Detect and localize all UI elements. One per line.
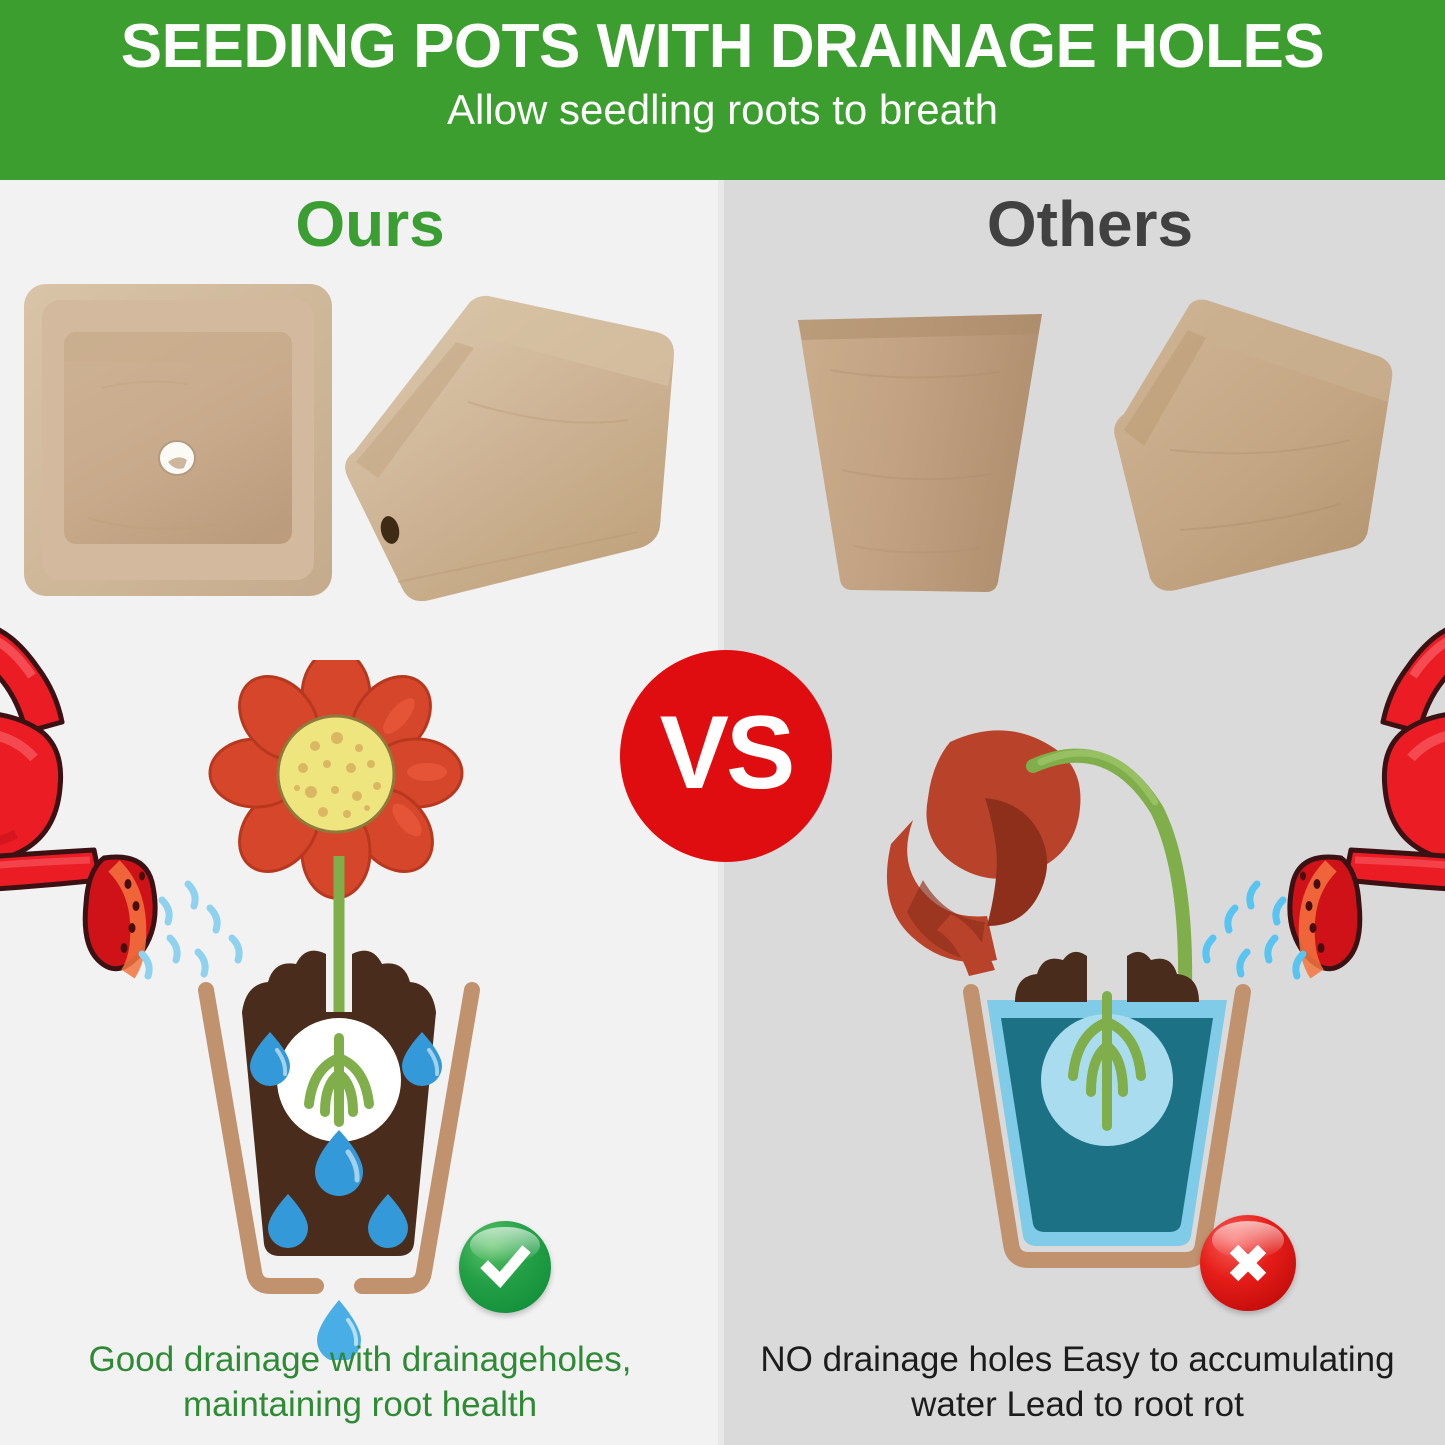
photo-tilted-pot-with-hole xyxy=(338,282,718,612)
heading-others: Others xyxy=(925,192,1255,256)
caption-ours: Good drainage with drainageholes, mainta… xyxy=(30,1338,690,1428)
header-title: SEEDING POTS WITH DRAINAGE HOLES xyxy=(121,14,1324,79)
photo-tapered-pot-side-view xyxy=(790,300,1050,598)
caption-others: NO drainage holes Easy to accumulating w… xyxy=(740,1338,1415,1428)
wilted-flower-icon xyxy=(887,730,1081,976)
header-banner: SEEDING POTS WITH DRAINAGE HOLES Allow s… xyxy=(0,0,1445,180)
photo-square-pot-top-view xyxy=(18,278,338,603)
infographic-page: SEEDING POTS WITH DRAINAGE HOLES Allow s… xyxy=(0,0,1445,1445)
photo-tilted-pot-no-hole xyxy=(1110,290,1420,600)
vs-label: VS xyxy=(660,701,793,805)
vs-badge: VS xyxy=(620,650,832,862)
cross-icon xyxy=(1200,1215,1296,1311)
illustration-no-drainage xyxy=(855,700,1275,1320)
heading-ours: Ours xyxy=(205,192,535,256)
check-icon xyxy=(459,1221,551,1313)
header-subtitle: Allow seedling roots to breath xyxy=(447,87,998,133)
